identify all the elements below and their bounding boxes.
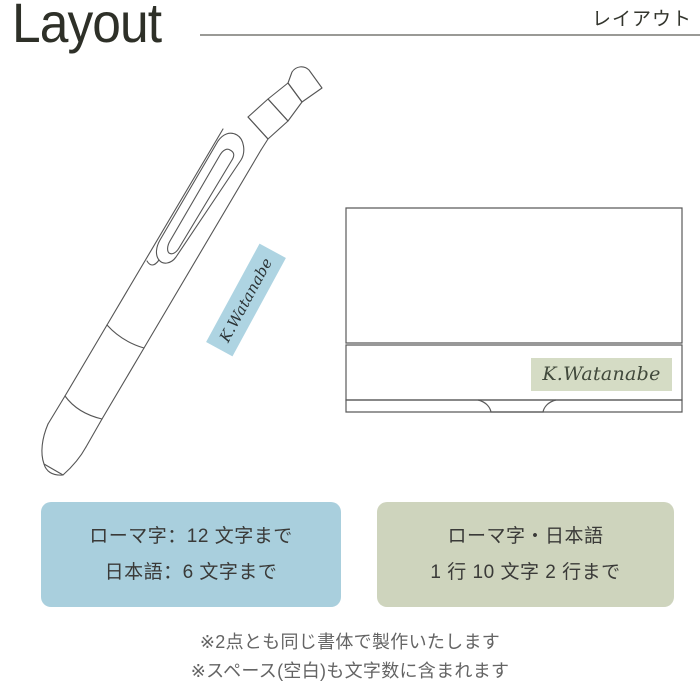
page-title-japanese: レイアウト [592, 4, 692, 31]
pen-outline-icon [30, 55, 350, 485]
footer-note-1: ※2点とも同じ書体で製作いたします [0, 628, 700, 657]
card-case-illustration: K.Watanabe [345, 206, 683, 414]
card-case-engraving-label: K.Watanabe [531, 358, 672, 391]
spec-case-line-2: 1 行 10 文字 2 行まで [430, 555, 620, 590]
spec-box-card-case: ローマ字・日本語 1 行 10 文字 2 行まで [377, 502, 674, 607]
spec-boxes-group: ローマ字：12 文字まで 日本語：6 文字まで ローマ字・日本語 1 行 10 … [0, 502, 700, 614]
footer-notes: ※2点とも同じ書体で製作いたします ※スペース(空白)も文字数に含まれます [0, 628, 700, 686]
footer-note-2: ※スペース(空白)も文字数に含まれます [0, 657, 700, 686]
spec-pen-line-2: 日本語：6 文字まで [105, 555, 278, 590]
title-divider-rule [200, 34, 700, 36]
spec-pen-line-1: ローマ字：12 文字まで [89, 519, 292, 554]
spec-case-line-1: ローマ字・日本語 [447, 519, 603, 554]
pen-illustration: K.Watanabe [30, 55, 350, 485]
page-header: Layout レイアウト [0, 0, 700, 60]
spec-box-pen: ローマ字：12 文字まで 日本語：6 文字まで [41, 502, 341, 607]
card-case-engraving-text: K.Watanabe [531, 358, 672, 391]
page-title: Layout [12, 0, 161, 53]
